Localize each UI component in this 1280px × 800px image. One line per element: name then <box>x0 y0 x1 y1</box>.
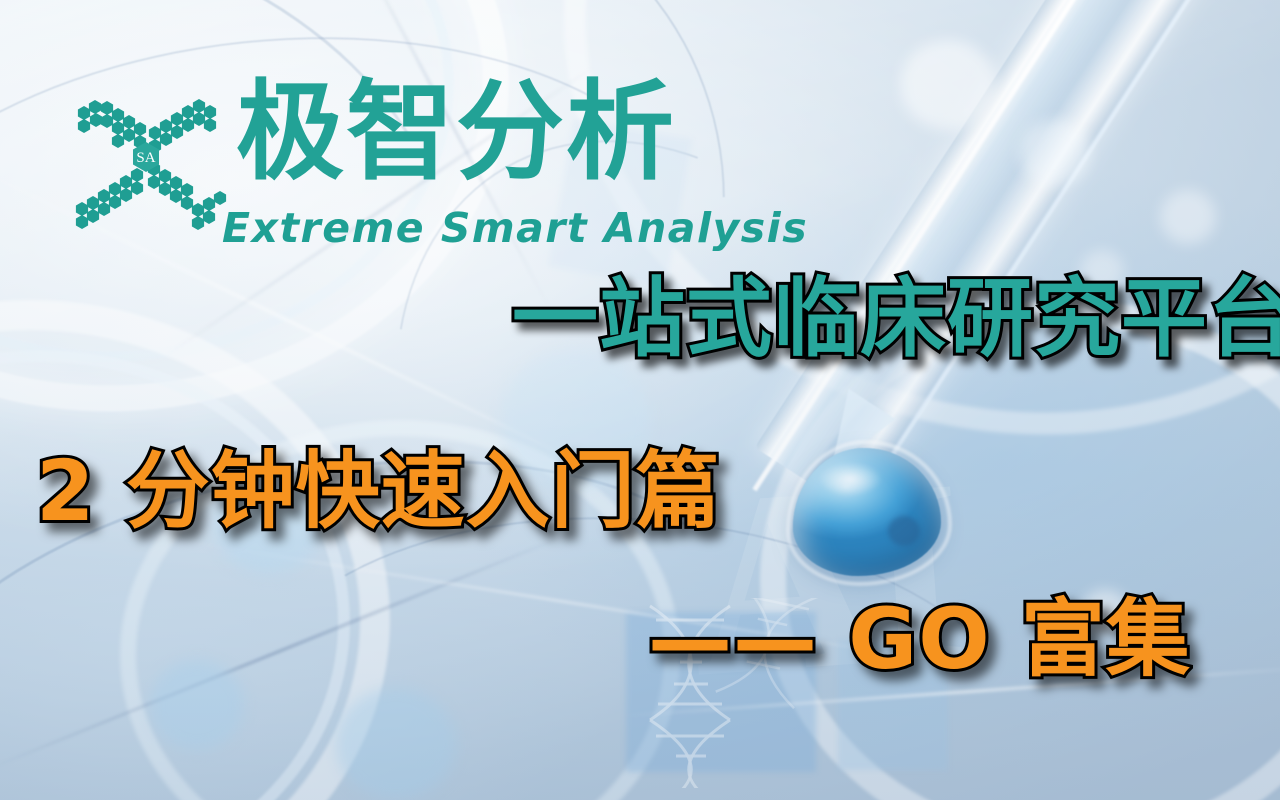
brand-name-cn: 极智分析 <box>236 76 676 189</box>
svg-text:SA: SA <box>136 150 155 166</box>
slide-episode-title: 2 分钟快速入门篇 <box>36 424 721 545</box>
brand-logo: SA 极智分析 Extreme Smart Analysis <box>58 80 658 260</box>
brand-name-en: Extreme Smart Analysis <box>222 204 808 252</box>
slide-subtitle: 一站式临床研究平台 <box>512 248 1280 373</box>
x-chromosome-hex-logo-icon: SA <box>62 82 232 252</box>
slide-topic-title: —— GO 富集 <box>648 572 1191 693</box>
title-slide: AI <box>0 0 1280 800</box>
